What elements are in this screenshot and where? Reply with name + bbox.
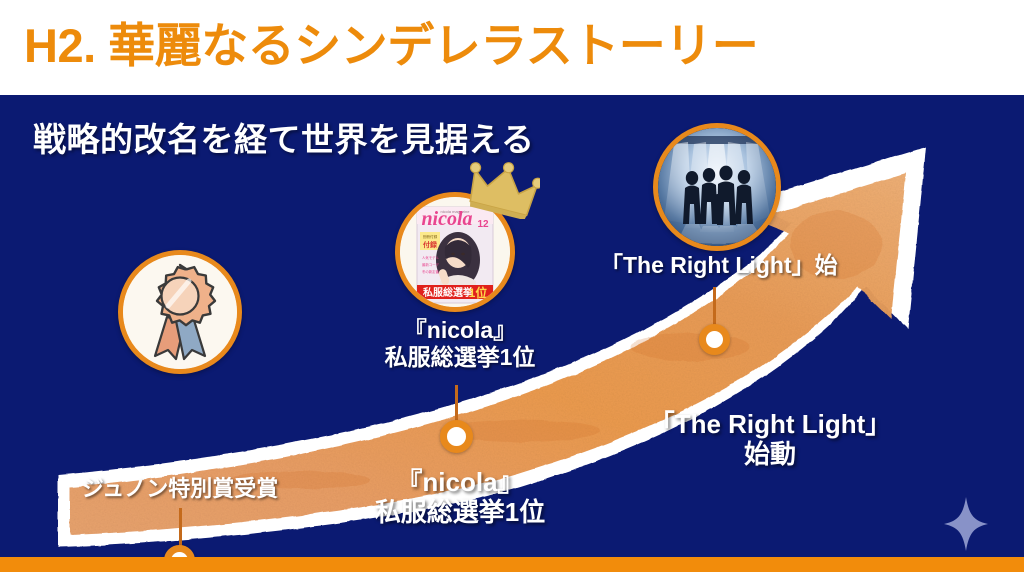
milestone-nicola-label-bottom-line2: 私服総選挙1位 <box>340 498 580 528</box>
milestone-the-right-light-dot[interactable] <box>699 324 730 355</box>
milestone-junon-dot[interactable] <box>164 545 195 557</box>
milestone-the-right-light-label-bottom-line2: 始動 <box>645 440 895 470</box>
svg-text:人気モデル: 人気モデル <box>422 255 440 260</box>
sparkle-star <box>944 497 988 551</box>
svg-text:nicola: nicola <box>421 208 472 230</box>
milestone-nicola-dot[interactable] <box>440 420 473 453</box>
svg-text:最新コーデ: 最新コーデ <box>422 262 440 267</box>
page-title: H2. 華麗なるシンデレラストーリー <box>24 16 758 76</box>
award-ribbon-icon[interactable] <box>118 250 242 374</box>
milestone-nicola-label-top-line2: 私服総選挙1位 <box>340 344 580 371</box>
slide-root: H2. 華麗なるシンデレラストーリー 戦略的改名を経て世界を見据える <box>0 0 1024 572</box>
milestone-the-right-light-label-top: 「The Right Light」始 <box>600 252 920 279</box>
svg-text:1位: 1位 <box>469 285 488 300</box>
content-panel: 戦略的改名を経て世界を見据える <box>0 95 1024 557</box>
svg-text:付録: 付録 <box>423 240 438 249</box>
milestone-nicola-label-top: 『nicola』 私服総選挙1位 <box>340 317 580 370</box>
slide-header: H2. 華麗なるシンデレラストーリー <box>0 0 1024 95</box>
milestone-the-right-light-label-bottom-line1: 「The Right Light」 <box>645 410 895 440</box>
svg-text:私服総選挙: 私服総選挙 <box>422 286 474 299</box>
svg-text:別冊付録: 別冊付録 <box>423 234 438 239</box>
milestone-nicola-label-bottom: 『nicola』 私服総選挙1位 <box>340 468 580 528</box>
milestone-junon-label-top: ジュノン特別賞受賞 <box>30 476 330 502</box>
crown-icon <box>466 161 540 219</box>
svg-text:冬の新定番: 冬の新定番 <box>422 269 440 274</box>
subtitle-text: 戦略的改名を経て世界を見据える <box>33 113 535 161</box>
footer-accent-bar <box>0 557 1024 572</box>
stage-silhouette-icon[interactable] <box>653 123 781 251</box>
milestone-nicola-label-top-line1: 『nicola』 <box>340 317 580 344</box>
milestone-nicola-label-bottom-line1: 『nicola』 <box>340 468 580 498</box>
svg-text:12: 12 <box>477 219 489 230</box>
milestone-the-right-light-label-bottom: 「The Right Light」 始動 <box>645 410 895 470</box>
